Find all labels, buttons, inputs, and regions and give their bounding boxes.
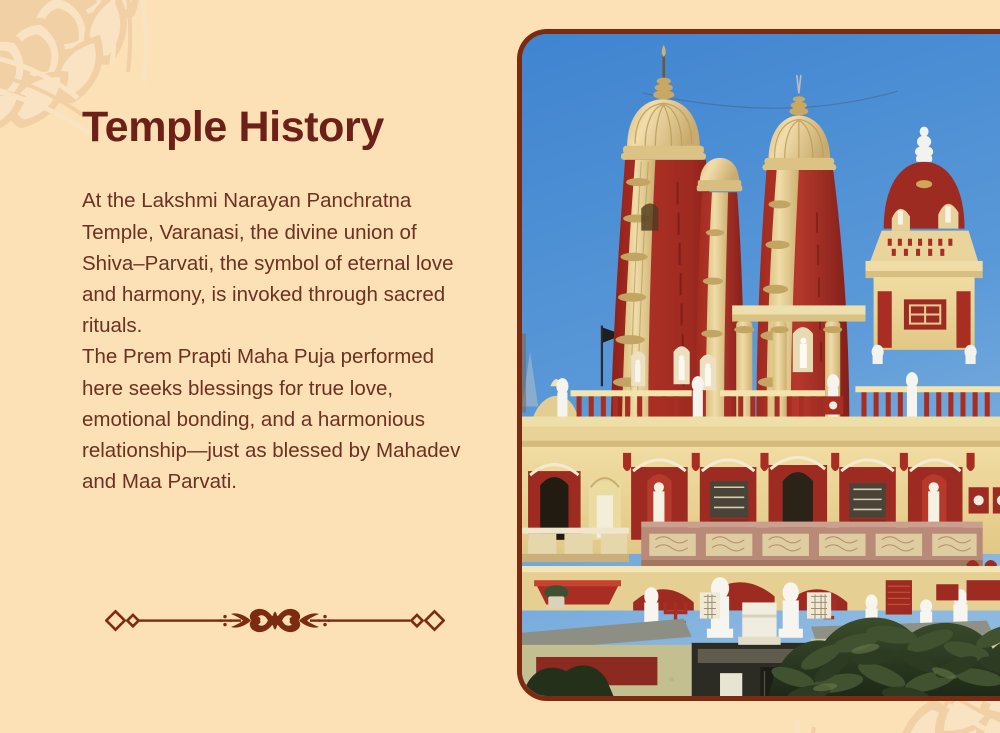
slide-canvas: Temple History At the Lakshmi Narayan Pa… [0, 0, 1000, 733]
body-copy: At the Lakshmi Narayan Panchratna Temple… [82, 185, 477, 497]
paragraph-1: At the Lakshmi Narayan Panchratna Temple… [82, 185, 477, 341]
text-column: Temple History At the Lakshmi Narayan Pa… [82, 104, 482, 497]
paragraph-2: The Prem Prapti Maha Puja performed here… [82, 341, 477, 497]
temple-photo-frame [517, 29, 1000, 701]
page-title: Temple History [82, 104, 482, 151]
ornamental-divider [105, 603, 445, 637]
temple-photo [522, 34, 1000, 696]
